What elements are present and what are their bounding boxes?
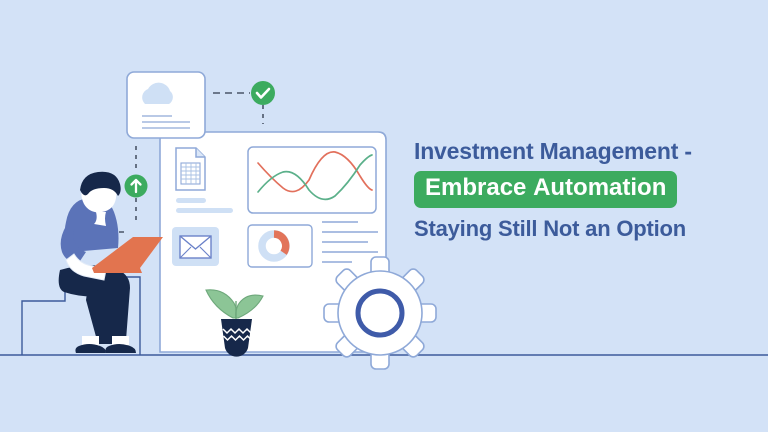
line-chart-widget [248, 147, 376, 213]
check-circle-icon [251, 81, 275, 105]
page-title: Investment Management - [414, 138, 734, 164]
highlight-word-one: Embrace [425, 174, 526, 201]
gear-icon [324, 257, 436, 369]
email-widget [172, 227, 219, 266]
headline-text-block: Investment Management - Embrace Automati… [414, 138, 734, 242]
document-table-icon [176, 148, 205, 190]
highlight-row: Embrace Automation [414, 171, 734, 207]
arrow-up-circle-icon [125, 175, 148, 198]
page-subtitle: Staying Still Not an Option [414, 216, 734, 242]
highlight-word-two: Automation [533, 174, 666, 201]
marketing-banner: Investment Management - Embrace Automati… [0, 0, 768, 432]
cloud-document-card [127, 72, 205, 138]
donut-chart-widget [248, 225, 312, 267]
status-badge: Embrace Automation [414, 171, 677, 207]
